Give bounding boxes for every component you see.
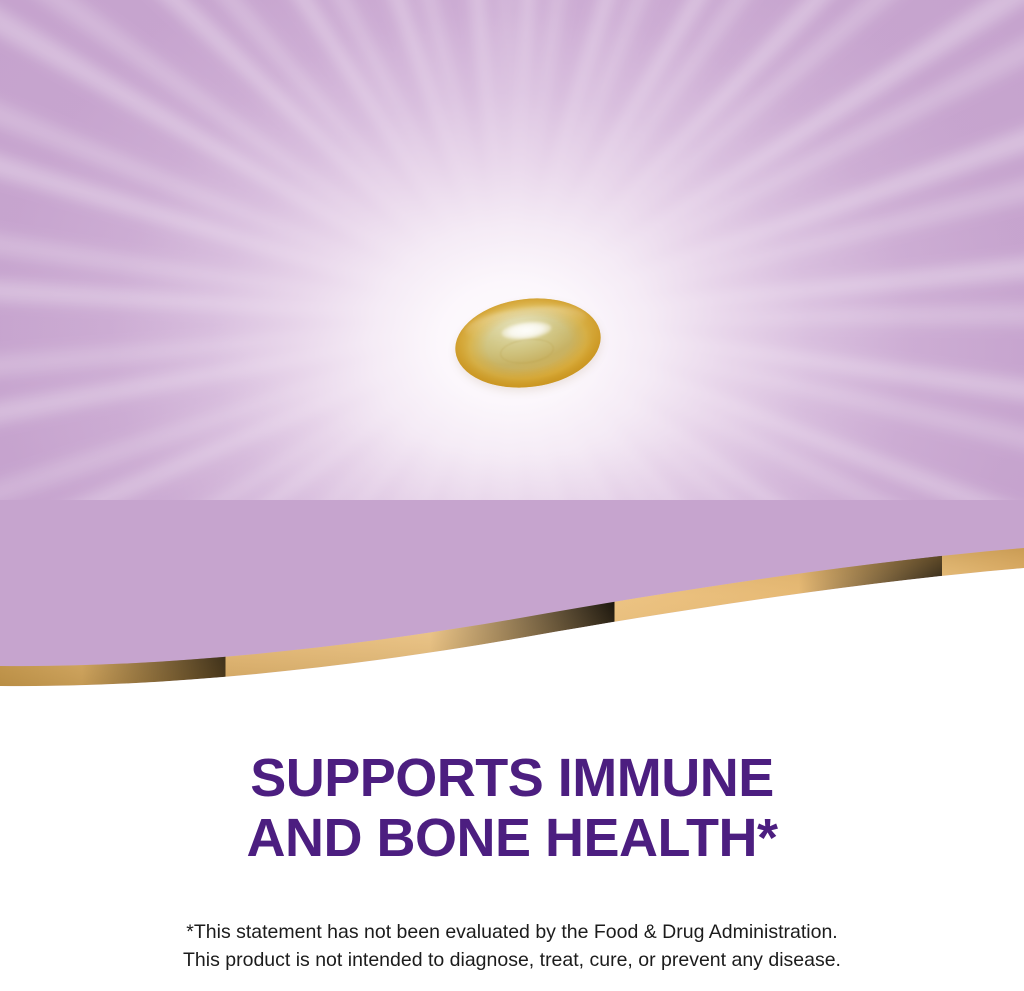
content-area: SUPPORTS IMMUNE AND BONE HEALTH* *This s… bbox=[0, 690, 1024, 991]
gold-wave-divider bbox=[0, 500, 1024, 720]
disclaimer-line-2: This product is not intended to diagnose… bbox=[0, 946, 1024, 974]
disclaimer-line-1: *This statement has not been evaluated b… bbox=[0, 918, 1024, 946]
headline: SUPPORTS IMMUNE AND BONE HEALTH* bbox=[0, 748, 1024, 868]
product-marketing-poster: SUPPORTS IMMUNE AND BONE HEALTH* *This s… bbox=[0, 0, 1024, 991]
headline-line-2: AND BONE HEALTH* bbox=[0, 808, 1024, 868]
fda-disclaimer: *This statement has not been evaluated b… bbox=[0, 918, 1024, 974]
headline-line-1: SUPPORTS IMMUNE bbox=[0, 748, 1024, 808]
vitamin-d3-softgel bbox=[450, 290, 606, 395]
